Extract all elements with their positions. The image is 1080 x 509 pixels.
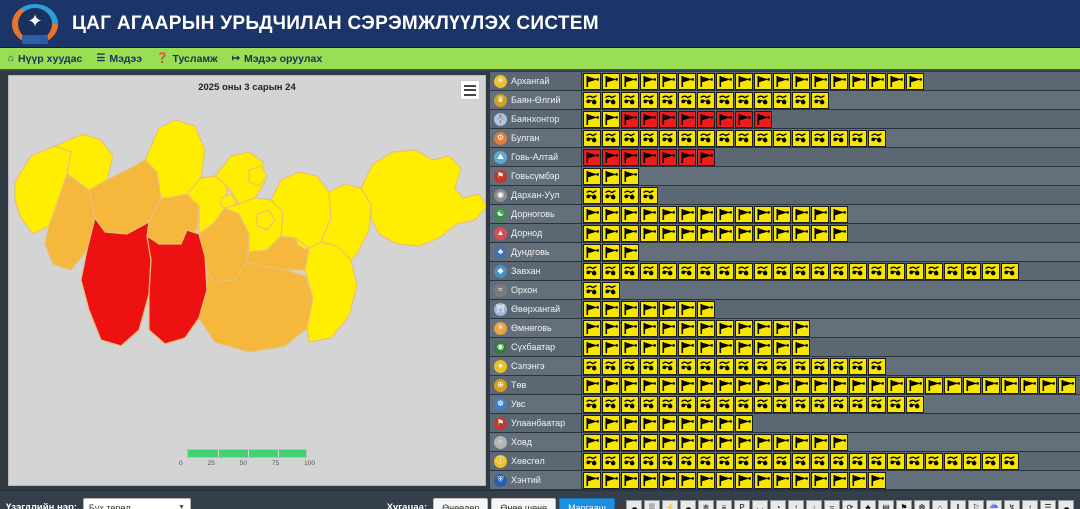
warning-cell-yellow[interactable] xyxy=(583,339,601,356)
warning-cell-yellow[interactable] xyxy=(621,434,639,451)
smoke-icon[interactable]: ≈ xyxy=(824,500,840,509)
warning-cell-yellow[interactable] xyxy=(754,339,772,356)
warning-cell-yellow[interactable] xyxy=(849,263,867,280)
table-row[interactable]: ⚑Говьсүмбэр xyxy=(490,167,1080,186)
table-row[interactable]: ⚙Булган xyxy=(490,129,1080,148)
warning-cell-yellow[interactable] xyxy=(773,130,791,147)
warning-cell-yellow[interactable] xyxy=(792,263,810,280)
storm-flag-icon[interactable]: ⚐ xyxy=(968,500,984,509)
warning-cell-yellow[interactable] xyxy=(583,396,601,413)
warning-cell-yellow[interactable] xyxy=(830,206,848,223)
table-row[interactable]: ≈Орхон xyxy=(490,281,1080,300)
warning-cell-yellow[interactable] xyxy=(716,92,734,109)
table-row[interactable]: ○Ховд xyxy=(490,433,1080,452)
warning-cell-yellow[interactable] xyxy=(621,339,639,356)
province-label[interactable]: ☀Архангай xyxy=(490,72,582,90)
warning-cell-yellow[interactable] xyxy=(697,415,715,432)
warning-cell-yellow[interactable] xyxy=(868,130,886,147)
warning-cell-red[interactable] xyxy=(678,111,696,128)
province-label[interactable]: ☀Өмнөговь xyxy=(490,319,582,337)
warning-cell-yellow[interactable] xyxy=(735,73,753,90)
warning-cell-yellow[interactable] xyxy=(811,472,829,489)
province-label[interactable]: ◉Дархан-Уул xyxy=(490,186,582,204)
warning-cell-yellow[interactable] xyxy=(697,434,715,451)
warning-cell-yellow[interactable] xyxy=(906,73,924,90)
period-button-3[interactable]: Маргааш xyxy=(559,498,615,509)
warning-cell-yellow[interactable] xyxy=(792,339,810,356)
warning-cell-yellow[interactable] xyxy=(811,206,829,223)
warning-cell-yellow[interactable] xyxy=(640,225,658,242)
province-label[interactable]: ☸Увс xyxy=(490,395,582,413)
period-button-1[interactable]: Өнөөдөр xyxy=(433,498,488,509)
nav-item-3[interactable]: ❓Тусламж xyxy=(156,53,218,65)
warning-cell-yellow[interactable] xyxy=(792,453,810,470)
warning-cell-yellow[interactable] xyxy=(640,187,658,204)
warning-cell-yellow[interactable] xyxy=(621,263,639,280)
warning-cell-yellow[interactable] xyxy=(811,130,829,147)
table-row[interactable]: ⒾХөвсгөл xyxy=(490,452,1080,471)
warning-cell-yellow[interactable] xyxy=(811,263,829,280)
table-row[interactable]: ⛩Өвөрхангай xyxy=(490,300,1080,319)
warning-cell-yellow[interactable] xyxy=(678,263,696,280)
warning-cell-yellow[interactable] xyxy=(621,396,639,413)
warning-cell-yellow[interactable] xyxy=(754,358,772,375)
warning-cell-yellow[interactable] xyxy=(678,320,696,337)
warning-cell-yellow[interactable] xyxy=(716,472,734,489)
province-label[interactable]: ●Сэлэнгэ xyxy=(490,357,582,375)
warning-cell-yellow[interactable] xyxy=(716,377,734,394)
warning-cell-yellow[interactable] xyxy=(735,396,753,413)
warning-cell-yellow[interactable] xyxy=(1001,453,1019,470)
warning-cell-yellow[interactable] xyxy=(678,415,696,432)
warning-cell-yellow[interactable] xyxy=(621,225,639,242)
drizzle-icon[interactable]: ◡ xyxy=(752,500,768,509)
warning-cell-yellow[interactable] xyxy=(659,263,677,280)
province-label[interactable]: ⚙Булган xyxy=(490,129,582,147)
province-label[interactable]: ≈Орхон xyxy=(490,281,582,299)
warning-cell-yellow[interactable] xyxy=(773,73,791,90)
warning-cell-yellow[interactable] xyxy=(602,225,620,242)
warning-cell-yellow[interactable] xyxy=(944,453,962,470)
warning-cell-yellow[interactable] xyxy=(621,168,639,185)
warning-cell-yellow[interactable] xyxy=(792,73,810,90)
warning-cell-yellow[interactable] xyxy=(754,206,772,223)
snow-crystal-icon[interactable]: ❄ xyxy=(698,500,714,509)
warning-cell-yellow[interactable] xyxy=(640,453,658,470)
table-row[interactable]: ⊕Төв xyxy=(490,376,1080,395)
warning-cell-red[interactable] xyxy=(697,111,715,128)
cloud-water-icon[interactable]: ☁ xyxy=(1058,500,1074,509)
map-card[interactable]: 2025 оны 3 сарын 24 xyxy=(8,75,486,486)
warning-cell-yellow[interactable] xyxy=(868,396,886,413)
warning-cell-yellow[interactable] xyxy=(868,263,886,280)
warning-cell-yellow[interactable] xyxy=(602,415,620,432)
province-label[interactable]: ♣Дундговь xyxy=(490,243,582,261)
warning-cell-yellow[interactable] xyxy=(621,73,639,90)
warning-cell-yellow[interactable] xyxy=(583,453,601,470)
warning-cell-yellow[interactable] xyxy=(640,415,658,432)
warning-cell-yellow[interactable] xyxy=(583,225,601,242)
warning-cell-yellow[interactable] xyxy=(621,320,639,337)
warning-cell-yellow[interactable] xyxy=(792,472,810,489)
warning-cell-yellow[interactable] xyxy=(659,92,677,109)
warning-cell-yellow[interactable] xyxy=(602,282,620,299)
warning-cell-yellow[interactable] xyxy=(906,377,924,394)
warning-cell-yellow[interactable] xyxy=(963,377,981,394)
warning-cell-yellow[interactable] xyxy=(792,130,810,147)
cloud-icon[interactable]: ☁ xyxy=(680,500,696,509)
flag-wind-icon[interactable]: ⚑ xyxy=(896,500,912,509)
warning-cell-yellow[interactable] xyxy=(602,206,620,223)
warning-cell-yellow[interactable] xyxy=(583,263,601,280)
warning-cell-yellow[interactable] xyxy=(659,453,677,470)
warning-cell-yellow[interactable] xyxy=(735,434,753,451)
warning-cell-yellow[interactable] xyxy=(868,358,886,375)
warning-cell-yellow[interactable] xyxy=(583,434,601,451)
warning-cell-yellow[interactable] xyxy=(830,377,848,394)
table-row[interactable]: ◉Сүхбаатар xyxy=(490,338,1080,357)
warning-cell-yellow[interactable] xyxy=(697,377,715,394)
warning-cell-red[interactable] xyxy=(678,149,696,166)
warning-cell-yellow[interactable] xyxy=(811,377,829,394)
warning-cell-yellow[interactable] xyxy=(678,377,696,394)
warning-cell-yellow[interactable] xyxy=(868,472,886,489)
warning-cell-yellow[interactable] xyxy=(849,396,867,413)
warning-cell-yellow[interactable] xyxy=(754,434,772,451)
fog-icon[interactable]: ☁ xyxy=(626,500,642,509)
cloudy-icon[interactable]: ◔ xyxy=(770,500,786,509)
warning-cell-yellow[interactable] xyxy=(1039,377,1057,394)
warning-cell-yellow[interactable] xyxy=(659,206,677,223)
warning-cell-yellow[interactable] xyxy=(640,263,658,280)
warning-cell-yellow[interactable] xyxy=(792,377,810,394)
warning-cell-yellow[interactable] xyxy=(754,130,772,147)
warning-cell-yellow[interactable] xyxy=(906,396,924,413)
warning-cell-yellow[interactable] xyxy=(659,301,677,318)
warning-cell-red[interactable] xyxy=(754,111,772,128)
phenomenon-select[interactable]: Бүх төрөл ▼ xyxy=(83,498,191,509)
warning-cell-yellow[interactable] xyxy=(678,92,696,109)
warning-cell-yellow[interactable] xyxy=(602,396,620,413)
period-button-2[interactable]: Өнөө шөнө xyxy=(491,498,556,509)
table-row[interactable]: ☸Увс xyxy=(490,395,1080,414)
nav-item-1[interactable]: ⌂Нүүр хуудас xyxy=(8,53,82,65)
warning-cell-yellow[interactable] xyxy=(678,472,696,489)
dust-devil-icon[interactable]: ↯ xyxy=(1004,500,1020,509)
warning-cell-yellow[interactable] xyxy=(621,92,639,109)
table-row[interactable]: ⛰Говь-Алтай xyxy=(490,148,1080,167)
province-label[interactable]: ⊕Төв xyxy=(490,376,582,394)
warning-cell-yellow[interactable] xyxy=(773,472,791,489)
warning-cell-yellow[interactable] xyxy=(621,415,639,432)
warning-cell-yellow[interactable] xyxy=(583,282,601,299)
warning-cell-yellow[interactable] xyxy=(944,377,962,394)
warning-cell-yellow[interactable] xyxy=(716,320,734,337)
warning-cell-yellow[interactable] xyxy=(887,73,905,90)
warning-cell-yellow[interactable] xyxy=(583,301,601,318)
house-icon[interactable]: ⌂ xyxy=(932,500,948,509)
warning-cell-yellow[interactable] xyxy=(583,415,601,432)
warning-cell-yellow[interactable] xyxy=(697,263,715,280)
ruler-icon[interactable]: ‖ xyxy=(950,500,966,509)
warning-cell-yellow[interactable] xyxy=(754,396,772,413)
warning-cell-yellow[interactable] xyxy=(640,320,658,337)
warning-cell-yellow[interactable] xyxy=(773,92,791,109)
warning-cell-yellow[interactable] xyxy=(621,130,639,147)
warning-cell-yellow[interactable] xyxy=(925,377,943,394)
warning-cell-yellow[interactable] xyxy=(716,453,734,470)
warning-cell-yellow[interactable] xyxy=(925,453,943,470)
warning-cell-red[interactable] xyxy=(621,111,639,128)
province-label[interactable]: ☯Дорноговь xyxy=(490,205,582,223)
warning-cell-yellow[interactable] xyxy=(640,472,658,489)
warning-cell-yellow[interactable] xyxy=(754,225,772,242)
warning-cell-yellow[interactable] xyxy=(811,92,829,109)
province-label[interactable]: ⛨Хэнтий xyxy=(490,471,582,489)
warning-cell-yellow[interactable] xyxy=(1020,377,1038,394)
table-row[interactable]: ⛨Хэнтий xyxy=(490,471,1080,490)
warning-cell-yellow[interactable] xyxy=(602,434,620,451)
province-label[interactable]: ⒾХөвсгөл xyxy=(490,452,582,470)
warning-cell-yellow[interactable] xyxy=(735,263,753,280)
warning-cell-yellow[interactable] xyxy=(640,206,658,223)
warning-cell-yellow[interactable] xyxy=(583,472,601,489)
warning-cell-yellow[interactable] xyxy=(716,263,734,280)
table-row[interactable]: ☀Өмнөговь xyxy=(490,319,1080,338)
table-row[interactable]: ☀Архангай xyxy=(490,72,1080,91)
warning-cell-yellow[interactable] xyxy=(716,396,734,413)
warning-cell-yellow[interactable] xyxy=(697,301,715,318)
warning-cell-yellow[interactable] xyxy=(1001,263,1019,280)
warning-cell-yellow[interactable] xyxy=(735,320,753,337)
building-icon[interactable]: ▤ xyxy=(878,500,894,509)
warning-cell-yellow[interactable] xyxy=(659,73,677,90)
warning-cell-yellow[interactable] xyxy=(716,130,734,147)
warning-cell-yellow[interactable] xyxy=(602,472,620,489)
warning-cell-yellow[interactable] xyxy=(792,358,810,375)
warning-cell-yellow[interactable] xyxy=(678,396,696,413)
warning-cell-yellow[interactable] xyxy=(640,73,658,90)
warning-cell-yellow[interactable] xyxy=(602,339,620,356)
warning-cell-yellow[interactable] xyxy=(944,263,962,280)
province-label[interactable]: ◆Завхан xyxy=(490,262,582,280)
warning-cell-yellow[interactable] xyxy=(659,396,677,413)
warning-cell-yellow[interactable] xyxy=(583,320,601,337)
warning-cell-yellow[interactable] xyxy=(906,453,924,470)
warning-cell-yellow[interactable] xyxy=(621,301,639,318)
warning-cell-yellow[interactable] xyxy=(659,377,677,394)
warning-cell-yellow[interactable] xyxy=(602,111,620,128)
warning-cell-yellow[interactable] xyxy=(583,168,601,185)
warning-cell-yellow[interactable] xyxy=(773,339,791,356)
warning-cell-yellow[interactable] xyxy=(697,472,715,489)
warning-cell-yellow[interactable] xyxy=(735,206,753,223)
warning-cell-yellow[interactable] xyxy=(849,73,867,90)
warning-cell-yellow[interactable] xyxy=(792,320,810,337)
warning-cell-yellow[interactable] xyxy=(792,92,810,109)
warning-cell-yellow[interactable] xyxy=(678,301,696,318)
warning-cell-yellow[interactable] xyxy=(640,301,658,318)
warning-cell-yellow[interactable] xyxy=(887,453,905,470)
table-row[interactable]: ⛪Баянхонгор xyxy=(490,110,1080,129)
warning-cell-yellow[interactable] xyxy=(754,453,772,470)
warning-cell-yellow[interactable] xyxy=(849,472,867,489)
warning-cell-yellow[interactable] xyxy=(621,377,639,394)
warning-cell-yellow[interactable] xyxy=(583,187,601,204)
warning-cell-yellow[interactable] xyxy=(678,453,696,470)
warning-cell-yellow[interactable] xyxy=(697,206,715,223)
table-row[interactable]: ▲Дорнод xyxy=(490,224,1080,243)
tree-icon[interactable]: ♣ xyxy=(860,500,876,509)
warning-cell-yellow[interactable] xyxy=(583,244,601,261)
warning-cell-yellow[interactable] xyxy=(735,225,753,242)
warning-cell-yellow[interactable] xyxy=(640,434,658,451)
warning-cell-yellow[interactable] xyxy=(640,358,658,375)
warning-cell-yellow[interactable] xyxy=(735,92,753,109)
warning-cell-yellow[interactable] xyxy=(697,320,715,337)
warning-cell-red[interactable] xyxy=(659,149,677,166)
warning-cell-yellow[interactable] xyxy=(640,396,658,413)
warning-cell-yellow[interactable] xyxy=(754,377,772,394)
province-label[interactable]: ◉Сүхбаатар xyxy=(490,338,582,356)
warning-cell-yellow[interactable] xyxy=(735,415,753,432)
table-row[interactable]: ◆Завхан xyxy=(490,262,1080,281)
warning-cell-yellow[interactable] xyxy=(982,453,1000,470)
warning-cell-yellow[interactable] xyxy=(678,206,696,223)
warning-cell-yellow[interactable] xyxy=(963,453,981,470)
warning-cell-yellow[interactable] xyxy=(602,187,620,204)
warning-cell-yellow[interactable] xyxy=(583,111,601,128)
warning-cell-yellow[interactable] xyxy=(830,434,848,451)
warning-cell-red[interactable] xyxy=(640,111,658,128)
province-warning-grid[interactable]: ☀Архангай♛Баян-Өлгий⛪Баянхонгор⚙Булган⛰Г… xyxy=(490,71,1080,490)
rain-cloud-icon[interactable]: ☔ xyxy=(986,500,1002,509)
mist-icon[interactable]: ≡ xyxy=(716,500,732,509)
warning-cell-yellow[interactable] xyxy=(792,396,810,413)
warning-cell-yellow[interactable] xyxy=(849,358,867,375)
warning-cell-yellow[interactable] xyxy=(735,472,753,489)
warning-cell-yellow[interactable] xyxy=(678,225,696,242)
warning-cell-yellow[interactable] xyxy=(640,130,658,147)
warning-cell-yellow[interactable] xyxy=(754,73,772,90)
nav-item-2[interactable]: ☰Мэдээ xyxy=(96,53,142,65)
warning-cell-yellow[interactable] xyxy=(735,339,753,356)
warning-cell-yellow[interactable] xyxy=(963,263,981,280)
warning-cell-yellow[interactable] xyxy=(830,263,848,280)
warning-cell-yellow[interactable] xyxy=(583,130,601,147)
warning-cell-yellow[interactable] xyxy=(678,358,696,375)
warning-cell-yellow[interactable] xyxy=(773,263,791,280)
warning-cell-yellow[interactable] xyxy=(602,301,620,318)
warning-cell-yellow[interactable] xyxy=(602,168,620,185)
warning-cell-yellow[interactable] xyxy=(773,396,791,413)
table-row[interactable]: ♛Баян-Өлгий xyxy=(490,91,1080,110)
lightning-icon[interactable]: ⚡ xyxy=(662,500,678,509)
warning-cell-yellow[interactable] xyxy=(716,225,734,242)
warning-cell-yellow[interactable] xyxy=(602,92,620,109)
warning-cell-red[interactable] xyxy=(621,149,639,166)
nav-item-4[interactable]: ↦Мэдээ оруулах xyxy=(232,53,323,65)
warning-cell-yellow[interactable] xyxy=(716,73,734,90)
warning-cell-yellow[interactable] xyxy=(697,339,715,356)
warning-cell-yellow[interactable] xyxy=(602,453,620,470)
warning-cell-yellow[interactable] xyxy=(602,358,620,375)
warning-cell-red[interactable] xyxy=(735,111,753,128)
warning-cell-yellow[interactable] xyxy=(678,434,696,451)
warning-cell-yellow[interactable] xyxy=(640,339,658,356)
warning-cell-yellow[interactable] xyxy=(621,472,639,489)
warning-cell-yellow[interactable] xyxy=(982,377,1000,394)
warning-cell-yellow[interactable] xyxy=(735,358,753,375)
warning-cell-yellow[interactable] xyxy=(659,320,677,337)
warning-cell-yellow[interactable] xyxy=(621,358,639,375)
warning-cell-red[interactable] xyxy=(602,149,620,166)
warning-cell-yellow[interactable] xyxy=(678,73,696,90)
warning-cell-yellow[interactable] xyxy=(602,320,620,337)
warning-cell-yellow[interactable] xyxy=(868,73,886,90)
warning-cell-yellow[interactable] xyxy=(621,206,639,223)
warning-cell-yellow[interactable] xyxy=(868,377,886,394)
table-row[interactable]: ☯Дорноговь xyxy=(490,205,1080,224)
warning-cell-yellow[interactable] xyxy=(697,453,715,470)
warning-cell-yellow[interactable] xyxy=(583,358,601,375)
warning-cell-yellow[interactable] xyxy=(792,434,810,451)
warning-cell-yellow[interactable] xyxy=(716,415,734,432)
warning-cell-yellow[interactable] xyxy=(621,187,639,204)
warning-cell-yellow[interactable] xyxy=(697,73,715,90)
warning-cell-yellow[interactable] xyxy=(697,396,715,413)
warning-cell-yellow[interactable] xyxy=(716,434,734,451)
warning-cell-yellow[interactable] xyxy=(811,73,829,90)
warning-cell-yellow[interactable] xyxy=(659,415,677,432)
warning-cell-yellow[interactable] xyxy=(640,92,658,109)
warning-cell-yellow[interactable] xyxy=(659,434,677,451)
warning-cell-yellow[interactable] xyxy=(773,320,791,337)
warning-cell-red[interactable] xyxy=(659,111,677,128)
warning-cell-yellow[interactable] xyxy=(678,339,696,356)
warning-cell-yellow[interactable] xyxy=(830,225,848,242)
warning-cell-yellow[interactable] xyxy=(716,339,734,356)
table-row[interactable]: ⚑Улаанбаатар xyxy=(490,414,1080,433)
warning-cell-yellow[interactable] xyxy=(868,453,886,470)
warning-cell-red[interactable] xyxy=(697,149,715,166)
province-label[interactable]: ○Ховд xyxy=(490,433,582,451)
warning-cell-yellow[interactable] xyxy=(830,396,848,413)
warning-cell-yellow[interactable] xyxy=(830,358,848,375)
warning-cell-yellow[interactable] xyxy=(735,377,753,394)
warning-cell-yellow[interactable] xyxy=(659,358,677,375)
warning-cell-yellow[interactable] xyxy=(811,453,829,470)
warning-cell-yellow[interactable] xyxy=(906,263,924,280)
warning-cell-yellow[interactable] xyxy=(982,263,1000,280)
warning-cell-yellow[interactable] xyxy=(678,130,696,147)
province-label[interactable]: ⛩Өвөрхангай xyxy=(490,300,582,318)
warning-cell-yellow[interactable] xyxy=(1058,377,1076,394)
warning-cell-yellow[interactable] xyxy=(887,377,905,394)
warning-cell-yellow[interactable] xyxy=(773,358,791,375)
blizzard-icon[interactable]: ❆ xyxy=(914,500,930,509)
warning-cell-yellow[interactable] xyxy=(716,358,734,375)
warning-cell-yellow[interactable] xyxy=(887,396,905,413)
warning-cell-yellow[interactable] xyxy=(792,206,810,223)
warning-cell-yellow[interactable] xyxy=(659,225,677,242)
province-label[interactable]: ▲Дорнод xyxy=(490,224,582,242)
warning-cell-yellow[interactable] xyxy=(1001,377,1019,394)
grid-lines-icon[interactable]: ☰ xyxy=(1040,500,1056,509)
warning-cell-yellow[interactable] xyxy=(716,206,734,223)
warning-cell-yellow[interactable] xyxy=(849,453,867,470)
warning-cell-yellow[interactable] xyxy=(583,92,601,109)
